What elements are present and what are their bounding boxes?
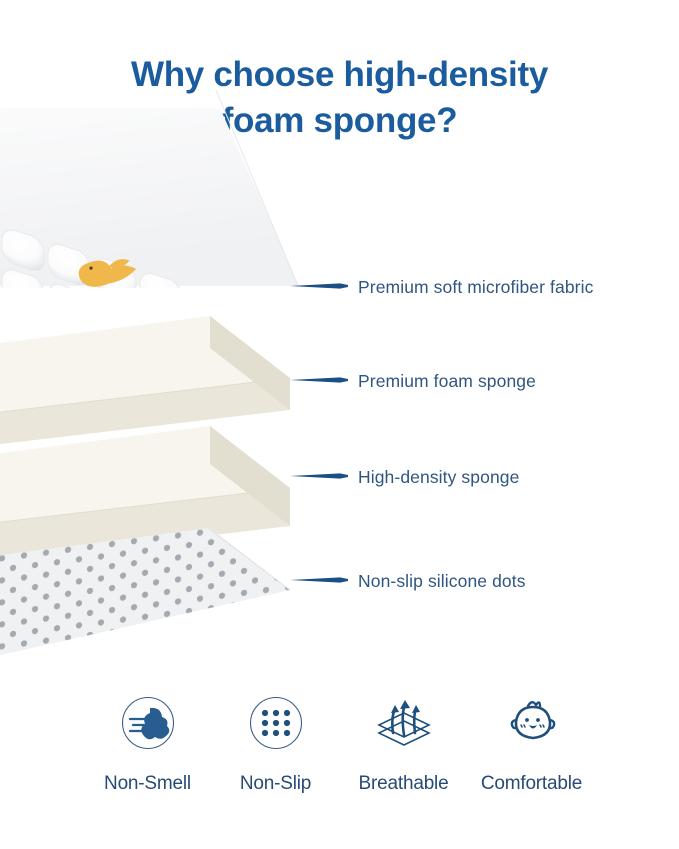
callout-label-foam: Premium foam sponge [358,371,536,392]
feature-label-non-slip: Non-Slip [240,773,311,795]
comfortable-icon [503,694,561,752]
callout-label-density: High-density sponge [358,467,519,488]
silicone-dot-layer [0,554,300,704]
breathable-icon [375,694,433,752]
feature-breathable: Breathable [340,694,468,795]
exploded-product-stack [0,150,320,690]
feature-row: Non-Smell [0,694,679,795]
infographic-page: Why choose high-density foam sponge? [0,0,679,849]
feature-label-breathable: Breathable [359,773,449,795]
callout-label-silicone: Non-slip silicone dots [358,571,526,592]
feature-non-slip: Non-Slip [212,694,340,795]
feature-label-comfortable: Comfortable [481,773,582,795]
microfiber-fabric-layer [0,148,300,298]
non-smell-icon [119,694,177,752]
non-slip-icon [247,694,305,752]
feature-comfortable: Comfortable [468,694,596,795]
callout-label-fabric: Premium soft microfiber fabric [358,277,593,298]
feature-label-non-smell: Non-Smell [104,773,191,795]
feature-non-smell: Non-Smell [84,694,212,795]
page-title-line-1: Why choose high-density [0,52,679,98]
